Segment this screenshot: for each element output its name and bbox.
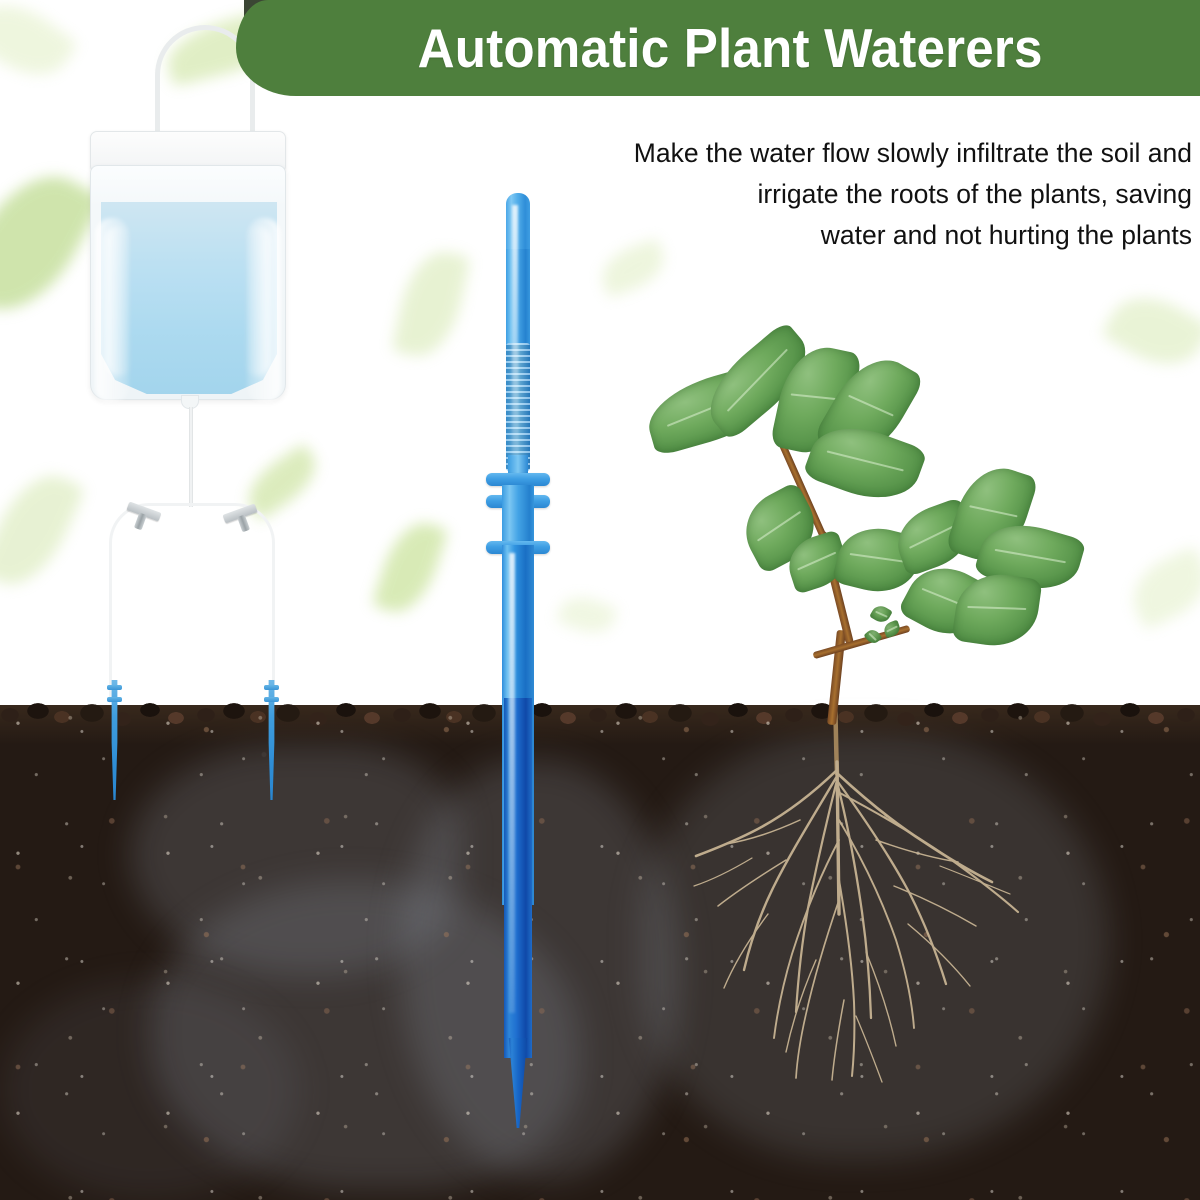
drip-spike-product [468,193,592,1128]
plant-root-system [640,700,1070,1090]
decor-leaf-icon [1122,546,1200,631]
water-bag-product [95,25,315,705]
product-marketing-image: Automatic Plant Waterers Make the water … [0,0,1200,1200]
decor-leaf-icon [1101,281,1200,381]
decor-leaf-icon [372,515,449,621]
subtitle-line-3: water and not hurting the plants [492,215,1192,256]
moisture-zone [0,980,300,1200]
subtitle-line-2: irrigate the roots of the plants, saving [492,174,1192,215]
spike-gloss-highlight [509,553,515,1013]
bag-highlight-right [245,226,271,376]
plant-illustration [620,330,1070,750]
decor-leaf-icon [0,0,78,92]
subtitle-text: Make the water flow slowly infiltrate th… [492,133,1192,256]
spike-tip [507,1038,529,1128]
decor-leaf-icon [0,155,104,331]
bag-highlight-left [105,226,131,376]
stake-collar [264,697,279,702]
feed-tube-right [191,503,275,703]
decor-leaf-icon [391,245,470,363]
spike-ribbed-section [506,343,530,471]
stake-collar [264,685,279,690]
page-title: Automatic Plant Waterers [270,0,1167,96]
plant-bud [882,620,902,639]
stake-collar [107,685,122,690]
feed-tube-left [109,503,193,703]
decor-leaf-icon [0,462,86,598]
main-feed-tube [189,407,193,507]
title-banner: Automatic Plant Waterers [236,0,1200,96]
bag-body [90,165,286,400]
stake-collar [107,697,122,702]
subtitle-line-1: Make the water flow slowly infiltrate th… [492,133,1192,174]
